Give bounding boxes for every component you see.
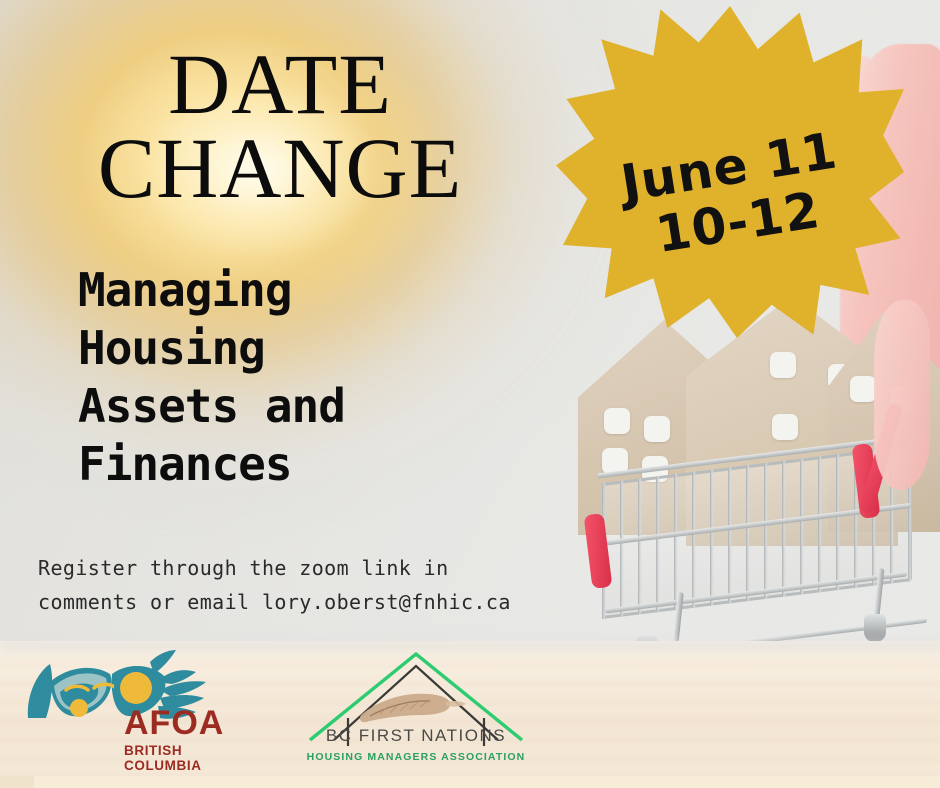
- registration-line-2: comments or email lory.oberst@fnhic.ca: [38, 586, 568, 620]
- afoa-wordmark: AFOA BRITISH COLUMBIA: [124, 706, 254, 773]
- house-window: [850, 376, 876, 402]
- bcfn-subtitle: HOUSING MANAGERS ASSOCIATION: [300, 751, 532, 763]
- bcfn-logo: BC FIRST NATIONS HOUSING MANAGERS ASSOCI…: [300, 652, 532, 774]
- event-subtitle: Managing Housing Assets and Finances: [78, 262, 548, 494]
- page-title: DATE CHANGE: [0, 42, 560, 211]
- date-badge-text: June 11 10-12: [532, 0, 928, 363]
- headline-line-2: CHANGE: [0, 126, 560, 210]
- cart-wheel: [864, 614, 886, 642]
- subtitle-line-4: Finances: [78, 436, 548, 494]
- afoa-name: AFOA: [124, 706, 254, 740]
- registration-line-1: Register through the zoom link in: [38, 552, 568, 586]
- headline-line-1: DATE: [0, 42, 560, 126]
- poster-canvas: June 11 10-12 DATE CHANGE Managing Housi…: [0, 0, 940, 788]
- subtitle-line-1: Managing: [78, 262, 548, 320]
- bottom-strip: [0, 776, 940, 788]
- subtitle-line-2: Housing: [78, 320, 548, 378]
- afoa-subtitle: BRITISH COLUMBIA: [124, 743, 254, 773]
- registration-info: Register through the zoom link in commen…: [38, 552, 568, 619]
- subtitle-line-3: Assets and: [78, 378, 548, 436]
- bcfn-name: BC FIRST NATIONS: [300, 726, 532, 746]
- house-window: [770, 352, 796, 378]
- afoa-logo: AFOA BRITISH COLUMBIA: [24, 648, 236, 770]
- date-badge: June 11 10-12: [556, 6, 904, 338]
